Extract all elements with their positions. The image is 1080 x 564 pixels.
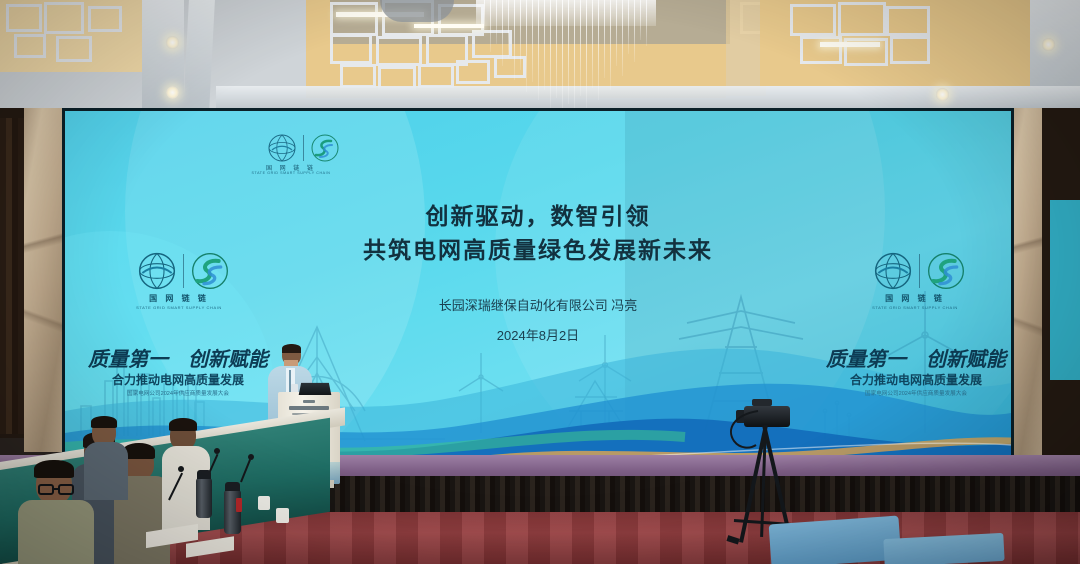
banner-right-slogan-a: 质量第一: [813, 343, 919, 372]
banner-left-slogan-a: 质量第一: [75, 343, 181, 372]
screen-right-sliver: [1050, 200, 1080, 380]
banner-right-subtitle: 合力推动电网高质量发展: [813, 371, 1011, 388]
slide-logo-en: STATE GRID SMART SUPPLY CHAIN: [231, 171, 351, 175]
state-grid-globe-icon: [873, 251, 913, 291]
conference-photo: 国 网 链 链 STATE GRID SMART SUPPLY CHAIN: [0, 0, 1080, 564]
banner-right-logo-cn: 国 网 链 链: [863, 293, 967, 304]
banner-left-logo-group: [137, 251, 230, 291]
thermos-lid: [197, 470, 211, 479]
microphone-head: [214, 448, 220, 454]
cup: [276, 508, 289, 523]
banner-left-subtitle: 合力推动电网高质量发展: [75, 371, 281, 388]
banner-right-slogan-b: 创新赋能: [913, 343, 1011, 372]
banner-left-logo-cn: 国 网 链 链: [127, 293, 231, 304]
supply-chain-s-icon: [926, 251, 966, 291]
chair-blue: [769, 516, 902, 564]
microphone-head: [178, 466, 184, 472]
chair-blue-2: [883, 533, 1004, 564]
thermos-lid: [225, 482, 240, 491]
ceiling: [0, 0, 1080, 112]
chandelier: [476, 0, 656, 112]
camera-cable-icon: [718, 407, 764, 451]
thermos-flask: [196, 478, 212, 518]
slide-title-line1: 创新驱动，数智引领: [65, 197, 1011, 231]
podium-sign-main: [289, 406, 329, 410]
pillar-left: [24, 108, 66, 452]
banner-right-logo-en: STATE GRID SMART SUPPLY CHAIN: [847, 305, 983, 310]
banner-right-logo-group: [873, 251, 966, 291]
led-screen: 国 网 链 链 STATE GRID SMART SUPPLY CHAIN: [62, 108, 1014, 463]
flask-label: [236, 498, 242, 512]
banner-left-logo-en: STATE GRID SMART SUPPLY CHAIN: [111, 305, 247, 310]
state-grid-globe-icon: [137, 251, 177, 291]
state-grid-globe-icon: [267, 133, 297, 163]
cup: [258, 496, 270, 510]
banner-left-fine-print: 国家电网公司2024年供应商质量发展大会: [75, 389, 281, 397]
slide-date: 2024年8月2日: [65, 325, 1011, 344]
thermos-flask: [224, 490, 241, 534]
glasses-icon: [38, 482, 78, 496]
microphone-head: [248, 454, 254, 460]
supply-chain-s-icon: [190, 251, 230, 291]
curtain-left: [0, 118, 26, 434]
supply-chain-s-icon: [310, 133, 340, 163]
banner-right-fine-print: 国家电网公司2024年供应商质量发展大会: [813, 389, 1011, 397]
laptop: [299, 383, 332, 395]
slide-logo-group: [267, 133, 340, 163]
podium-sign-top: [303, 400, 315, 403]
